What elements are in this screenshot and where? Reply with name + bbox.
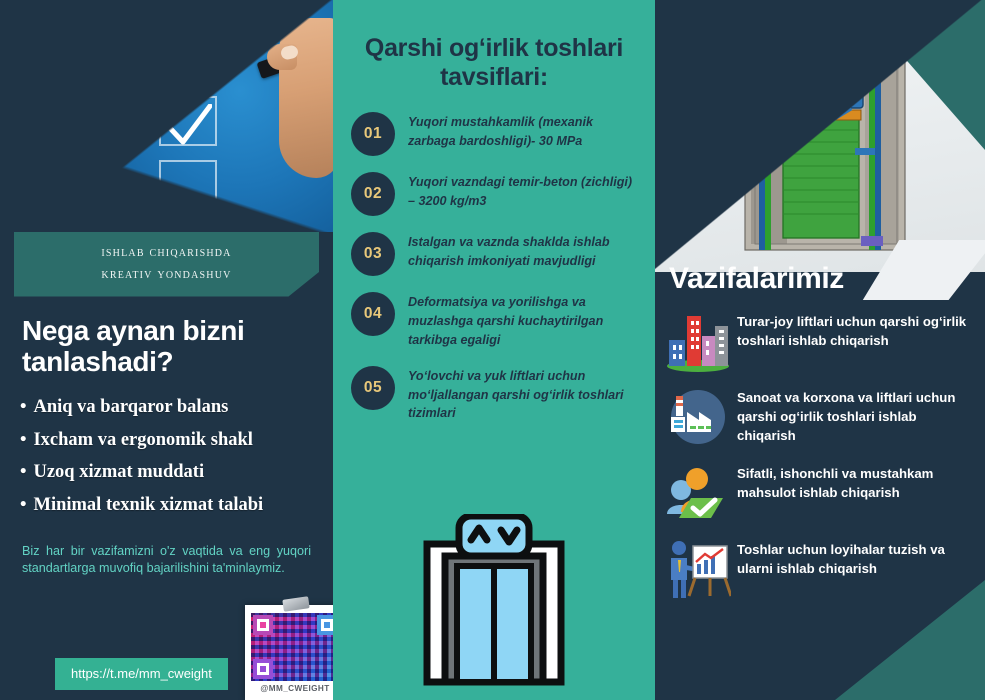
left-title-line-1: Nega aynan bizni bbox=[22, 315, 244, 346]
factory-icon bbox=[665, 386, 731, 448]
feature-item: 03 Istalgan va vaznda shaklda ishlab chi… bbox=[351, 230, 637, 276]
feature-text: Yuqori mustahkamlik (mexanik zarbaga bar… bbox=[408, 110, 637, 151]
city-buildings-icon bbox=[665, 310, 731, 372]
right-title: Vazifalarimiz bbox=[669, 262, 844, 296]
qr-handle-label: @MM_CWEIGHT bbox=[251, 684, 333, 693]
feature-number-badge: 02 bbox=[351, 172, 395, 216]
center-panel: Qarshi og‘irlik toshlari tavsiflari: 01 … bbox=[333, 0, 655, 700]
kicker-line-1: Ishlab chiqarishda bbox=[14, 242, 319, 264]
feature-item: 05 Yo‘lovchi va yuk liftlari uchun mo‘lj… bbox=[351, 364, 637, 424]
list-item: Aniq va barqaror balans bbox=[20, 391, 319, 424]
list-item: Turar-joy liftlari uchun qarshi og‘irlik… bbox=[665, 310, 973, 372]
qr-finder-icon bbox=[253, 659, 273, 679]
kicker-line-2: kreativ yondashuv bbox=[14, 264, 319, 286]
list-item: Sifatli, ishonchli va mustahkam mahsulot… bbox=[665, 462, 973, 524]
task-text: Toshlar uchun loyihalar tuzish va ularni… bbox=[737, 538, 973, 578]
feature-text: Yo‘lovchi va yuk liftlari uchun mo‘ljall… bbox=[408, 364, 637, 424]
elevator-icon bbox=[421, 514, 567, 686]
list-item: Ixcham va ergonomik shakl bbox=[20, 424, 319, 457]
feature-number-badge: 05 bbox=[351, 366, 395, 410]
left-kicker-banner: Ishlab chiqarishda kreativ yondashuv bbox=[14, 232, 319, 297]
feature-text: Deformatsiya va yorilishga va muzlashga … bbox=[408, 290, 637, 350]
navy-diagonal-overlay bbox=[655, 0, 985, 272]
left-title: Nega aynan bizni tanlashadi? bbox=[22, 315, 319, 378]
center-title: Qarshi og‘irlik toshlari tavsiflari: bbox=[351, 34, 637, 92]
feature-number-badge: 01 bbox=[351, 112, 395, 156]
left-title-line-2: tanlashadi? bbox=[22, 346, 173, 377]
task-text: Sanoat va korxona va liftlari uchun qars… bbox=[737, 386, 973, 445]
infographic-poster: Ishlab chiqarishda kreativ yondashuv Neg… bbox=[0, 0, 985, 700]
qr-finder-icon bbox=[317, 615, 333, 635]
qr-code-card[interactable]: @MM_CWEIGHT bbox=[245, 605, 333, 700]
task-text: Turar-joy liftlari uchun qarshi og‘irlik… bbox=[737, 310, 973, 350]
navy-diagonal-overlay-secondary bbox=[0, 0, 333, 268]
qr-finder-icon bbox=[253, 615, 273, 635]
people-check-icon bbox=[665, 462, 731, 524]
qr-code-icon bbox=[251, 613, 333, 681]
feature-number-badge: 04 bbox=[351, 292, 395, 336]
list-item: Toshlar uchun loyihalar tuzish va ularni… bbox=[665, 538, 973, 600]
feature-item: 04 Deformatsiya va yorilishga va muzlash… bbox=[351, 290, 637, 350]
feature-text: Istalgan va vaznda shaklda ishlab chiqar… bbox=[408, 230, 637, 271]
list-item: Uzoq xizmat muddati bbox=[20, 456, 319, 489]
task-text: Sifatli, ishonchli va mustahkam mahsulot… bbox=[737, 462, 973, 502]
feature-item: 01 Yuqori mustahkamlik (mexanik zarbaga … bbox=[351, 110, 637, 156]
feature-item: 02 Yuqori vazndagi temir-beton (zichligi… bbox=[351, 170, 637, 216]
telegram-url-badge[interactable]: https://t.me/mm_cweight bbox=[55, 658, 228, 690]
counterweight-machine-photo bbox=[655, 0, 985, 272]
presenter-chart-icon bbox=[665, 538, 731, 600]
promise-paragraph: Biz har bir vazifamizni o'z vaqtida va e… bbox=[22, 543, 311, 577]
left-panel: Ishlab chiqarishda kreativ yondashuv Neg… bbox=[0, 0, 333, 700]
list-item: Sanoat va korxona va liftlari uchun qars… bbox=[665, 386, 973, 448]
right-heading-area: Vazifalarimiz bbox=[655, 262, 985, 316]
tasks-list: Turar-joy liftlari uchun qarshi og‘irlik… bbox=[655, 310, 985, 614]
list-item: Minimal texnik xizmat talabi bbox=[20, 489, 319, 522]
feature-text: Yuqori vazndagi temir-beton (zichligi) –… bbox=[408, 170, 637, 211]
benefits-list: Aniq va barqaror balans Ixcham va ergono… bbox=[20, 391, 319, 521]
right-panel: Vazifalarimiz bbox=[655, 0, 985, 700]
feature-number-badge: 03 bbox=[351, 232, 395, 276]
paper-clip-icon bbox=[282, 596, 309, 612]
checkbox-photo bbox=[0, 0, 333, 268]
